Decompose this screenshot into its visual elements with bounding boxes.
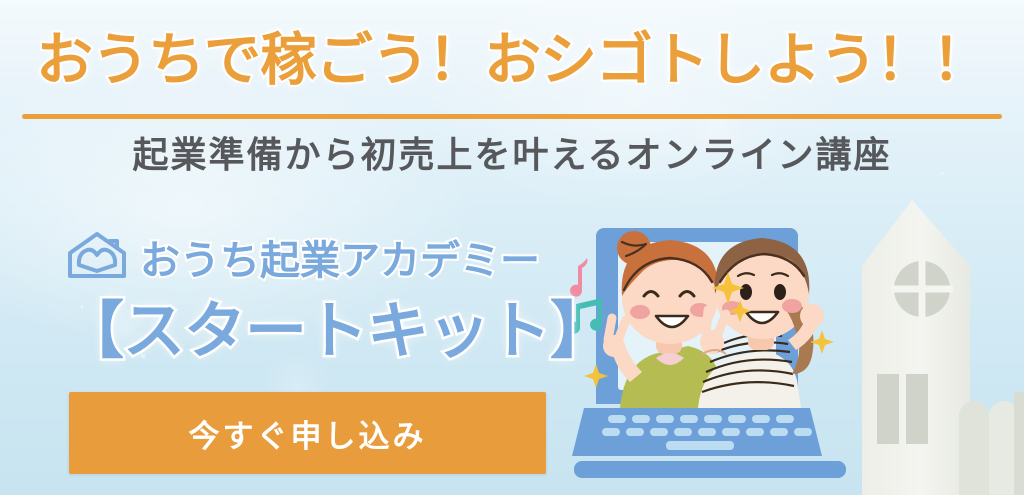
house-book-icon <box>66 231 128 284</box>
brand-lockup: おうち起業アカデミー <box>66 228 540 286</box>
apply-now-button[interactable]: 今すぐ申し込み <box>69 392 546 474</box>
brand-name: おうち起業アカデミー <box>140 228 540 286</box>
product-name: 【スタートキット】 <box>62 280 611 370</box>
banner-headline: おうちで稼ごう！おシゴトしよう！！ <box>0 32 1024 89</box>
headline-divider <box>22 114 1002 119</box>
apply-now-label: 今すぐ申し込み <box>189 411 427 456</box>
promo-banner: おうちで稼ごう！おシゴトしよう！！ 起業準備から初売上を叶えるオンライン講座 お… <box>0 0 1024 495</box>
banner-subheadline: 起業準備から初売上を叶えるオンライン講座 <box>0 134 1024 175</box>
house-illustration <box>846 194 1024 495</box>
